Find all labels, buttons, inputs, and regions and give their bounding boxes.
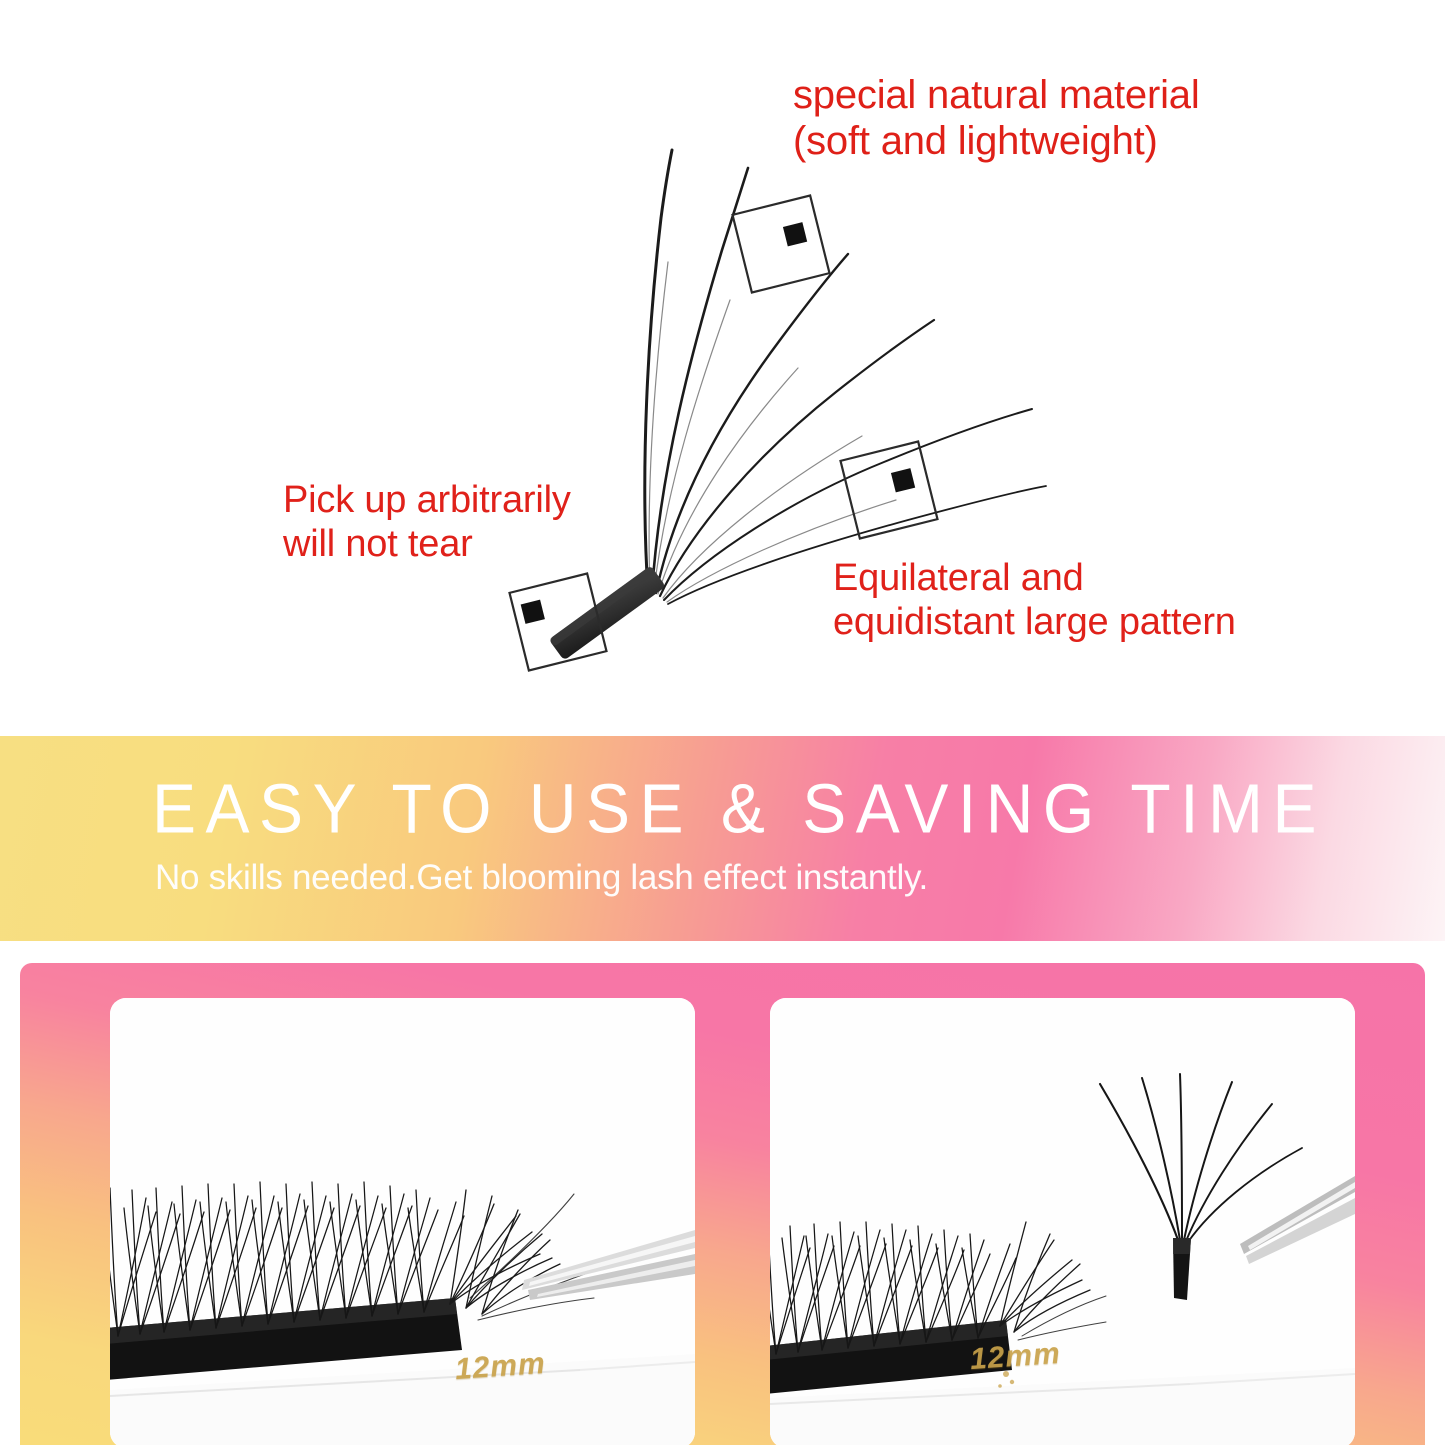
lash-length-label: 12mm: [454, 1347, 547, 1387]
lash-fan-diagram-section: special natural material (soft and light…: [0, 0, 1445, 736]
lash-tray-photo: [110, 998, 695, 1445]
callout-marker-square: [841, 442, 938, 539]
lash-fan-pickup-photo: [770, 998, 1355, 1445]
lash-length-label: 12mm: [969, 1337, 1062, 1377]
photo-card-lash-fan-lifted: 12mm: [770, 998, 1355, 1445]
photo-card-lash-tray-with-tweezers: 12mm: [110, 998, 695, 1445]
callout-marker-square: [733, 196, 830, 293]
product-photo-panel: 12mm: [20, 963, 1425, 1445]
banner-subtitle: No skills needed.Get blooming lash effec…: [155, 858, 928, 898]
callout-special-natural-material: special natural material (soft and light…: [793, 72, 1200, 165]
banner-title: EASY TO USE & SAVING TIME: [152, 768, 1326, 849]
callout-pick-up-arbitrarily: Pick up arbitrarily will not tear: [283, 478, 571, 566]
callout-equilateral-equidistant: Equilateral and equidistant large patter…: [833, 556, 1236, 644]
headline-banner: EASY TO USE & SAVING TIME No skills need…: [0, 736, 1445, 941]
